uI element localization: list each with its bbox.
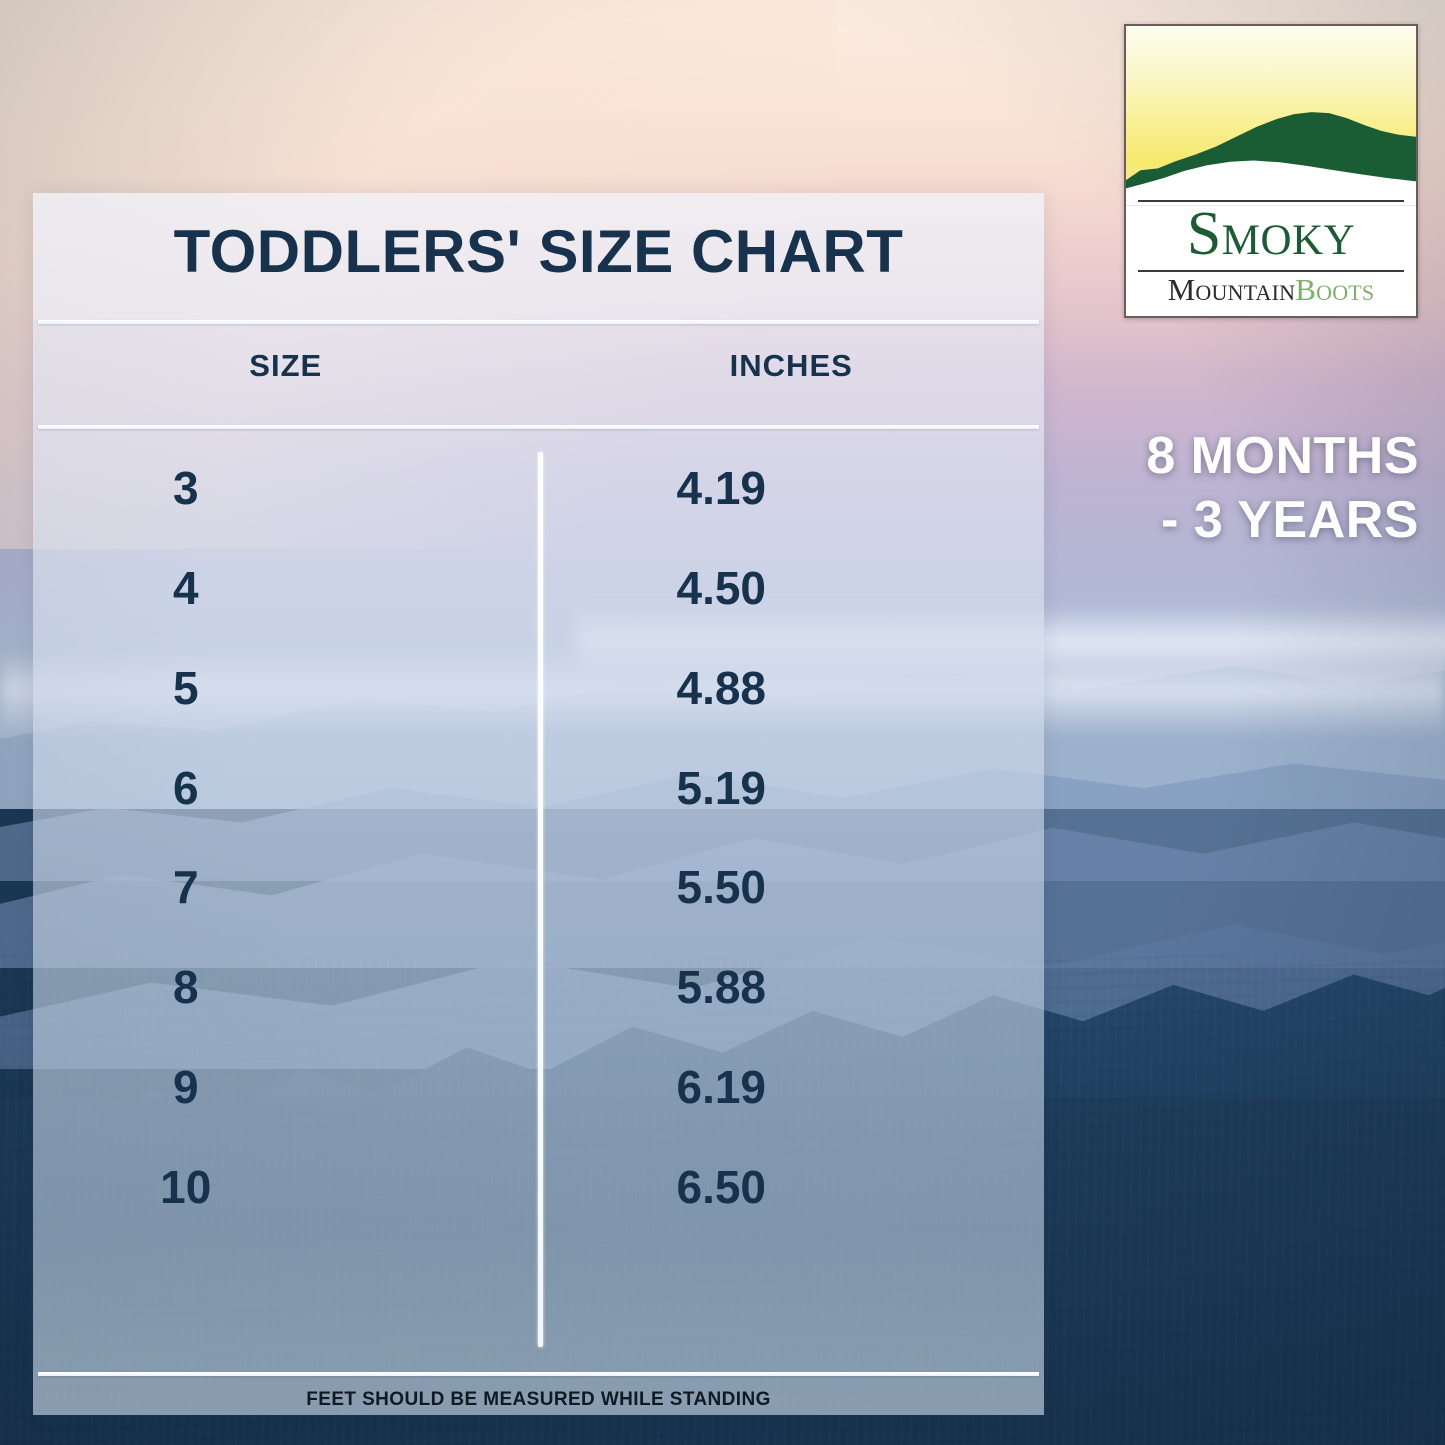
divider-footer xyxy=(38,1372,1039,1376)
table-row: 7 5.50 xyxy=(33,838,1044,938)
cell-inches: 6.19 xyxy=(569,1060,1045,1114)
logo-subbrand-boots: Boots xyxy=(1295,272,1374,307)
size-chart-panel: TODDLERS' SIZE CHART SIZE INCHES 3 4.19 … xyxy=(33,193,1044,1415)
table-row: 10 6.50 xyxy=(33,1137,1044,1237)
cell-size: 6 xyxy=(33,761,569,815)
measurement-note: FEET SHOULD BE MEASURED WHILE STANDING xyxy=(33,1389,1044,1411)
cell-inches: 4.19 xyxy=(569,461,1045,515)
age-range-badge: 8 MONTHS - 3 YEARS xyxy=(1019,424,1419,553)
cell-size: 9 xyxy=(33,1060,569,1114)
cell-size: 3 xyxy=(33,461,569,515)
brand-logo: Smoky MountainBoots xyxy=(1124,24,1418,318)
column-header-inches: INCHES xyxy=(539,348,1045,408)
age-range-line2: - 3 YEARS xyxy=(1019,488,1419,552)
table-row: 4 4.50 xyxy=(33,538,1044,638)
divider-top xyxy=(38,320,1039,324)
cell-inches: 5.50 xyxy=(569,860,1045,914)
logo-subbrand-text: MountainBoots xyxy=(1126,274,1416,305)
page-title: TODDLERS' SIZE CHART xyxy=(33,217,1044,286)
table-row: 3 4.19 xyxy=(33,438,1044,538)
cell-inches: 4.88 xyxy=(569,661,1045,715)
logo-subbrand-mountain: Mountain xyxy=(1168,272,1296,307)
cell-inches: 6.50 xyxy=(569,1160,1045,1214)
cell-size: 5 xyxy=(33,661,569,715)
cell-size: 4 xyxy=(33,561,569,615)
logo-brand-text: Smoky xyxy=(1126,203,1416,265)
table-column-headers: SIZE INCHES xyxy=(33,348,1044,408)
table-row: 9 6.19 xyxy=(33,1037,1044,1137)
column-header-size: SIZE xyxy=(33,348,539,408)
cell-size: 10 xyxy=(33,1160,569,1214)
cell-size: 7 xyxy=(33,860,569,914)
cell-inches: 5.88 xyxy=(569,960,1045,1014)
age-range-line1: 8 MONTHS xyxy=(1019,424,1419,488)
table-row: 6 5.19 xyxy=(33,738,1044,838)
divider-header xyxy=(38,425,1039,429)
cell-inches: 5.19 xyxy=(569,761,1045,815)
table-row: 8 5.88 xyxy=(33,937,1044,1037)
cell-inches: 4.50 xyxy=(569,561,1045,615)
cell-size: 8 xyxy=(33,960,569,1014)
table-body: 3 4.19 4 4.50 5 4.88 6 5.19 7 5.50 8 5.8… xyxy=(33,438,1044,1337)
table-row: 5 4.88 xyxy=(33,638,1044,738)
